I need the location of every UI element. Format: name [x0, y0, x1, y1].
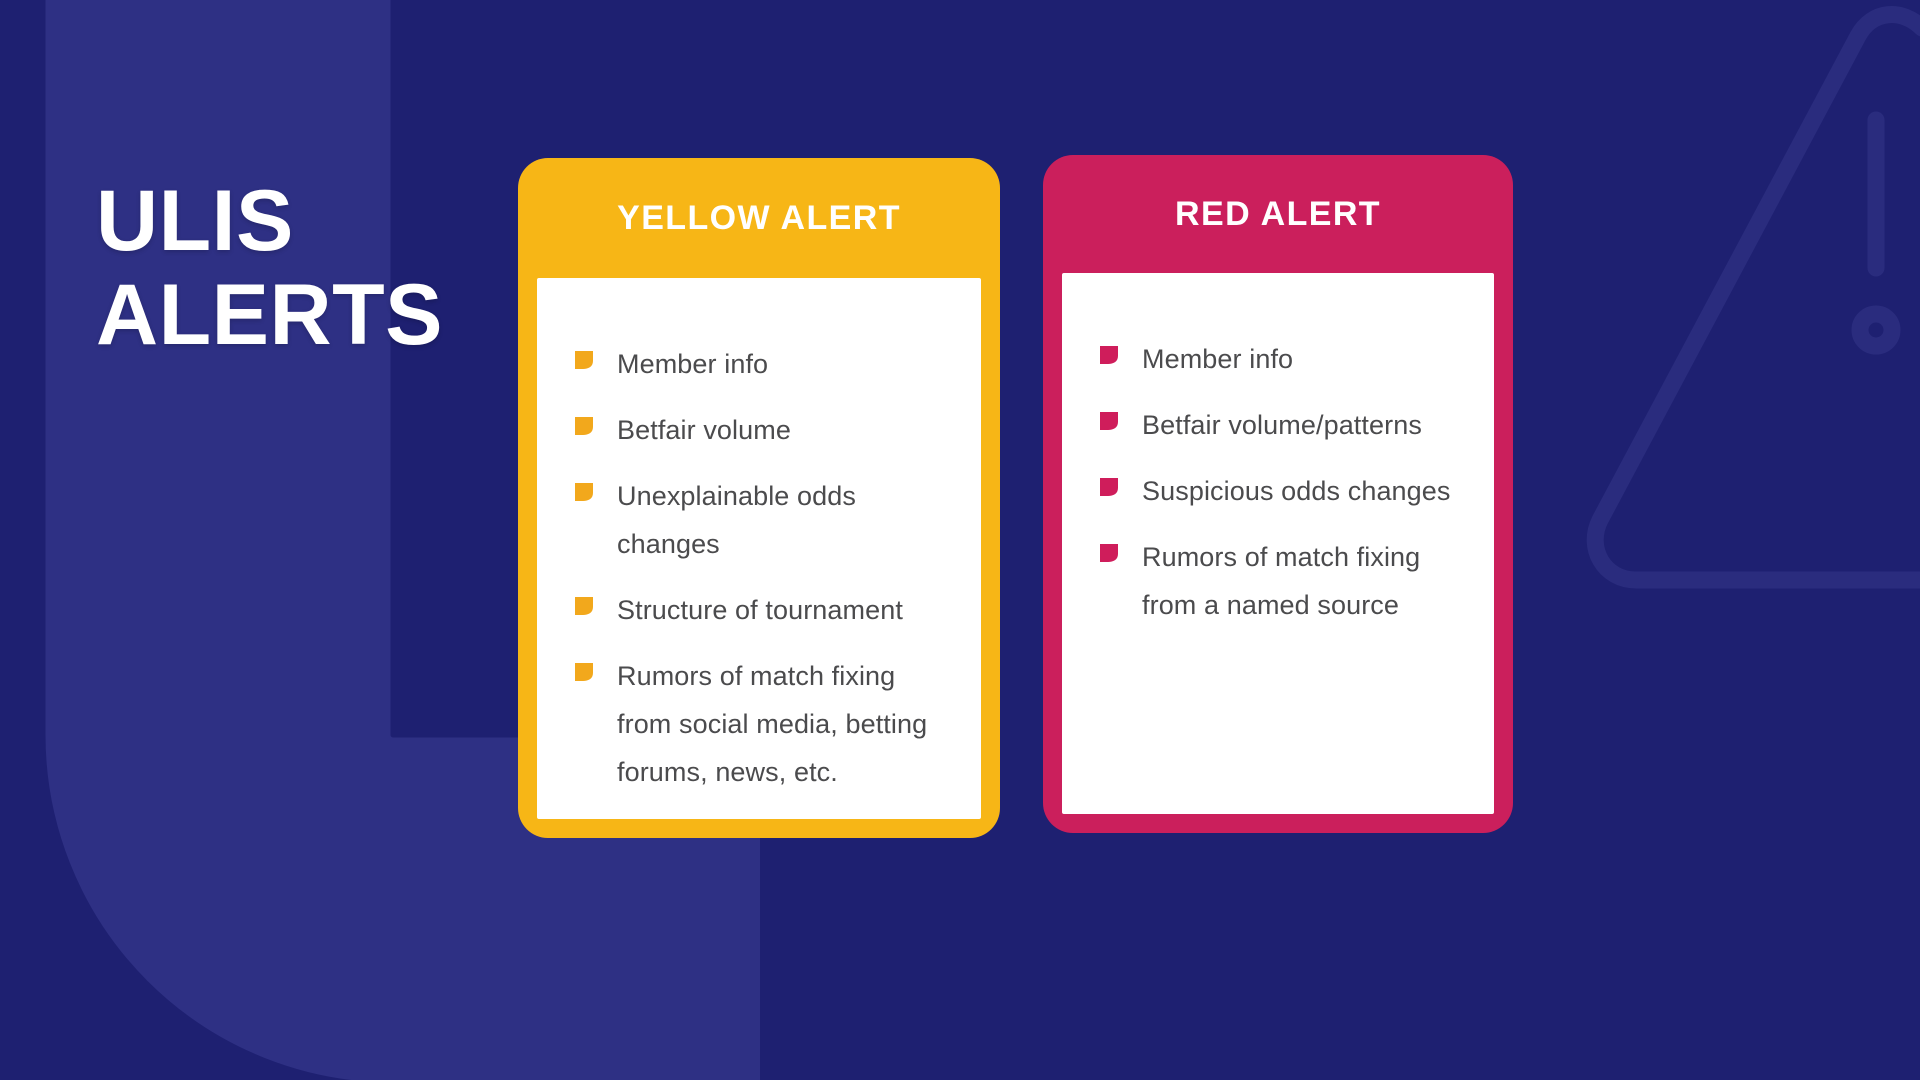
list-item-label: Rumors of match fixing from a named sour… [1142, 533, 1464, 629]
list-item-label: Member info [617, 340, 947, 388]
list-item: Betfair volume [573, 406, 947, 454]
list-item: Unexplainable odds changes [573, 472, 947, 568]
flag-bullet-icon [573, 481, 595, 503]
yellow-alert-card-body: Member info Betfair volume [537, 278, 981, 819]
red-alert-card-header: RED ALERT [1062, 155, 1494, 273]
list-item-label: Structure of tournament [617, 586, 947, 634]
yellow-alert-card: YELLOW ALERT Member info [518, 158, 1000, 838]
slide-canvas: ULIS ALERTS YELLOW ALERT Member info [0, 0, 1920, 1080]
flag-bullet-icon [573, 595, 595, 617]
red-alert-card-title: RED ALERT [1175, 195, 1381, 234]
list-item: Suspicious odds changes [1098, 467, 1464, 515]
yellow-alert-card-title: YELLOW ALERT [617, 199, 901, 238]
flag-bullet-icon [573, 415, 595, 437]
list-item: Member info [573, 340, 947, 388]
list-item: Rumors of match fixing from social media… [573, 652, 947, 796]
list-item-label: Betfair volume [617, 406, 947, 454]
list-item-label: Betfair volume/patterns [1142, 401, 1464, 449]
yellow-alert-list: Member info Betfair volume [573, 340, 947, 796]
list-item-label: Unexplainable odds changes [617, 472, 947, 568]
list-item-label: Rumors of match fixing from social media… [617, 652, 947, 796]
list-item-label: Member info [1142, 335, 1464, 383]
red-alert-list: Member info Betfair volume/patterns [1098, 335, 1464, 629]
flag-bullet-icon [1098, 410, 1120, 432]
list-item: Structure of tournament [573, 586, 947, 634]
flag-bullet-icon [573, 349, 595, 371]
list-item: Rumors of match fixing from a named sour… [1098, 533, 1464, 629]
warning-triangle-icon [1595, 15, 1920, 580]
yellow-alert-card-header: YELLOW ALERT [537, 158, 981, 278]
flag-bullet-icon [1098, 344, 1120, 366]
red-alert-card-body: Member info Betfair volume/patterns [1062, 273, 1494, 814]
red-alert-card: RED ALERT Member info [1043, 155, 1513, 833]
flag-bullet-icon [1098, 542, 1120, 564]
flag-bullet-icon [573, 661, 595, 683]
list-item: Betfair volume/patterns [1098, 401, 1464, 449]
list-item-label: Suspicious odds changes [1142, 467, 1464, 515]
list-item: Member info [1098, 335, 1464, 383]
flag-bullet-icon [1098, 476, 1120, 498]
